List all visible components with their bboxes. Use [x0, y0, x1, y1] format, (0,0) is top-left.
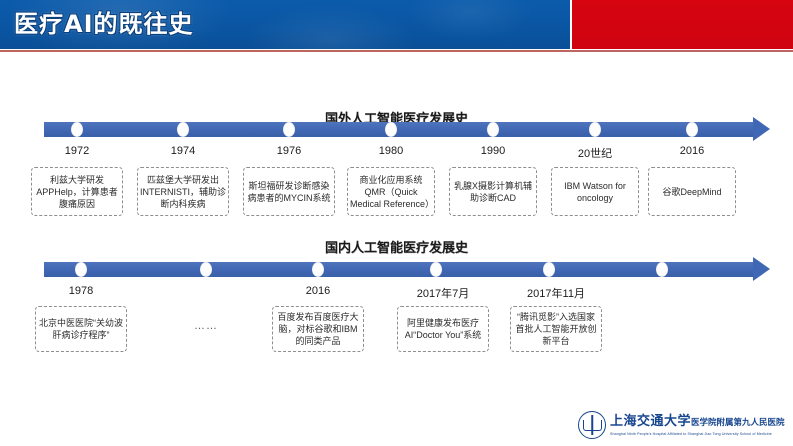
- timeline-year-label: 1972: [65, 145, 89, 157]
- timeline-year-label: 1980: [379, 145, 403, 157]
- footer-org-line: 上海交通大学医学院附属第九人民医院: [610, 414, 785, 431]
- timeline-marker[interactable]: [430, 262, 442, 277]
- timeline-marker[interactable]: [656, 262, 668, 277]
- timeline-marker[interactable]: [543, 262, 555, 277]
- timeline-event-card[interactable]: 北京中医医院“关幼波肝病诊疗程序”: [35, 306, 127, 352]
- timeline-event-card[interactable]: IBM Watson for oncology: [551, 167, 639, 216]
- slide-header: 医疗AI的既往史: [0, 0, 793, 52]
- timeline-marker[interactable]: [71, 122, 83, 137]
- header-divider-rule: [0, 50, 793, 52]
- timeline-ellipsis: ……: [194, 320, 218, 332]
- footer-logo: 上海交通大学医学院附属第九人民医院 Shanghai Ninth People'…: [578, 409, 788, 441]
- timeline-marker[interactable]: [200, 262, 212, 277]
- footer-logo-text: 上海交通大学医学院附属第九人民医院 Shanghai Ninth People'…: [610, 414, 785, 437]
- timeline-marker[interactable]: [589, 122, 601, 137]
- footer-org-en: Shanghai Ninth People's Hospital Affilia…: [610, 431, 785, 437]
- timeline-year-label: 2017年7月: [417, 285, 470, 301]
- timeline-event-card[interactable]: 匹兹堡大学研发出INTERNISTI，辅助诊断内科疾病: [137, 167, 229, 216]
- timeline-year-label: 1974: [171, 145, 195, 157]
- timeline-overseas-arrowhead: [753, 117, 770, 141]
- footer-org-sub: 医学院附属第九人民医院: [691, 418, 785, 428]
- timeline-overseas-bar: [44, 122, 755, 137]
- timeline-event-card[interactable]: 利兹大学研发APPHelp，计算患者腹痛原因: [31, 167, 123, 216]
- timeline-domestic-title: 国内人工智能医疗发展史: [325, 237, 468, 256]
- timeline-domestic-bar: [44, 262, 755, 277]
- timeline-marker[interactable]: [177, 122, 189, 137]
- timeline-event-card[interactable]: “腾讯觅影”入选国家首批人工智能开放创新平台: [510, 306, 602, 352]
- timeline-marker[interactable]: [283, 122, 295, 137]
- timeline-year-label: 1978: [69, 285, 93, 297]
- timeline-year-label: 2016: [680, 145, 704, 157]
- timeline-marker[interactable]: [75, 262, 87, 277]
- timeline-year-label: 1990: [481, 145, 505, 157]
- timeline-year-label: 2017年11月: [527, 285, 585, 301]
- timeline-marker[interactable]: [686, 122, 698, 137]
- timeline-event-card[interactable]: 斯坦福研发诊断感染病患者的MYCIN系统: [243, 167, 335, 216]
- timeline-event-card[interactable]: 阿里健康发布医疗AI“Doctor You”系统: [397, 306, 489, 352]
- timeline-year-label: 2016: [306, 285, 330, 297]
- timeline-event-card[interactable]: 商业化应用系统QMR（Quick Medical Reference）: [347, 167, 435, 216]
- timeline-year-label: 20世纪: [578, 145, 612, 161]
- timeline-marker[interactable]: [385, 122, 397, 137]
- timeline-event-card[interactable]: 乳腺X摄影计算机辅助诊断CAD: [449, 167, 537, 216]
- footer-org-name: 上海交通大学: [610, 414, 691, 429]
- university-emblem-icon: [578, 411, 606, 439]
- timeline-domestic-arrowhead: [753, 257, 770, 281]
- timeline-year-label: 1976: [277, 145, 301, 157]
- timeline-event-card[interactable]: 谷歌DeepMind: [648, 167, 736, 216]
- timeline-marker[interactable]: [487, 122, 499, 137]
- timeline-event-card[interactable]: 百度发布百度医疗大脑，对标谷歌和IBM的同类产品: [272, 306, 364, 352]
- timeline-marker[interactable]: [312, 262, 324, 277]
- header-red-panel: [572, 0, 793, 49]
- page-title: 医疗AI的既往史: [14, 7, 194, 41]
